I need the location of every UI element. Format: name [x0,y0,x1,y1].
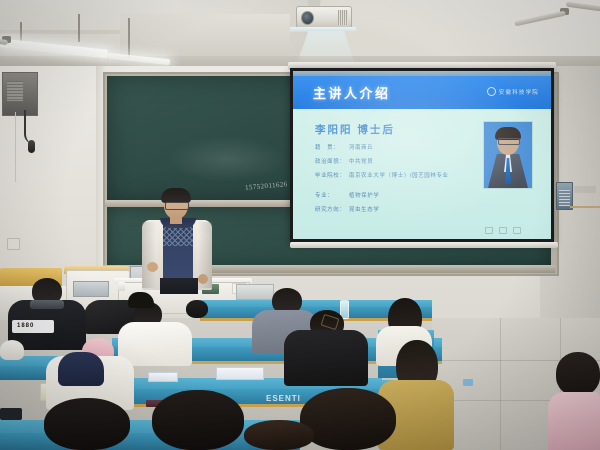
slide-title: 主讲人介绍 [313,83,391,102]
student-head [300,388,396,450]
wall-outlet-icon [7,238,20,250]
speaker-hand-right [198,274,208,284]
student-black-hoodie [284,330,368,386]
pointer-icon[interactable] [499,227,507,234]
info-value: 河南商丘 [349,145,373,151]
ceiling-beam [0,30,120,34]
info-label: 籍 贯： [315,143,349,151]
projector-vent [338,10,348,25]
paper-sheet [148,372,178,382]
pen-icon[interactable] [485,227,493,234]
info-value: 植物保护学 [349,193,379,199]
jacket-collar [30,300,64,309]
student-head [244,420,314,450]
speaker-hand-left [147,262,158,272]
info-label: 毕业院校： [315,171,349,179]
student-head [186,300,208,318]
info-value: 南京农业大学（博士）/园艺园林专业 [349,173,449,179]
side-desk [236,284,274,300]
jacket-tag-text: 1880 [17,323,34,329]
info-label: 研究方向： [315,205,349,213]
student-pink-hood [548,392,600,450]
jacket-shadow-left [142,222,156,288]
wall-notice [574,186,596,193]
info-row: 毕业院校：南京农业大学（博士）/园艺园林专业 [315,171,475,179]
presentation-toolbar[interactable] [485,227,521,234]
gooseneck-microphone-arm [24,110,36,144]
info-value: 中共党员 [349,159,373,165]
student-head [152,390,244,450]
projection-screen: 主讲人介绍 安徽科技学院 李阳阳 博士后 籍 贯：河南商丘 政治面貌：中共党员 … [290,68,554,242]
info-row: 籍 贯：河南商丘 [315,143,475,151]
phone-device[interactable] [0,408,22,420]
console-display[interactable] [73,281,109,297]
classroom-scene: 15752011626 主讲人介绍 安徽科技学院 李阳阳 博士后 籍 贯：河南商… [0,0,600,450]
speaker-trousers [160,278,198,294]
screen-bottom-bar [290,242,558,248]
photo-glasses-icon [498,138,520,145]
info-row: 研究方向：昆虫生态学 [315,205,475,213]
desk-label: ESENTI [266,394,301,403]
speaker-hair [161,188,191,203]
speaker-glasses-icon [165,202,189,210]
info-row: 专业：植物保护学 [315,191,475,199]
menu-icon[interactable] [513,227,521,234]
speaker-vent [7,81,23,101]
control-panel-buttons[interactable] [559,190,570,206]
light-rod [78,14,80,42]
speaker-name: 李阳阳 博士后 [315,122,395,137]
light-rod [128,18,130,58]
student-head [556,352,600,396]
hanging-cable [15,112,16,182]
speaker-info-list: 籍 贯：河南商丘 政治面貌：中共党员 毕业院校：南京农业大学（博士）/园艺园林专… [315,143,475,219]
circular-emblem-icon [487,87,496,96]
info-label: 政治面貌： [315,157,349,165]
ceiling-soffit [120,14,290,62]
logo-text: 安徽科技学院 [499,88,539,96]
info-value: 昆虫生态学 [349,207,379,213]
notebook [216,367,264,380]
info-row: 政治面貌：中共党员 [315,157,475,165]
projector-lens-icon [301,11,314,25]
speaker-id-photo [483,121,533,189]
phone-screen[interactable] [463,379,473,386]
student-head [44,398,130,450]
info-label: 专业： [315,191,349,199]
institution-logo: 安徽科技学院 [487,87,539,96]
student-hair [128,292,154,308]
wall-trim-strip [570,206,600,208]
white-cap [0,340,24,360]
desk-cup [118,282,125,291]
presentation-slide: 主讲人介绍 安徽科技学院 李阳阳 博士后 籍 贯：河南商丘 政治面貌：中共党员 … [293,71,551,239]
microphone-icon [28,140,35,153]
student-white-coat [118,322,192,366]
hoodie-hood [58,352,104,386]
